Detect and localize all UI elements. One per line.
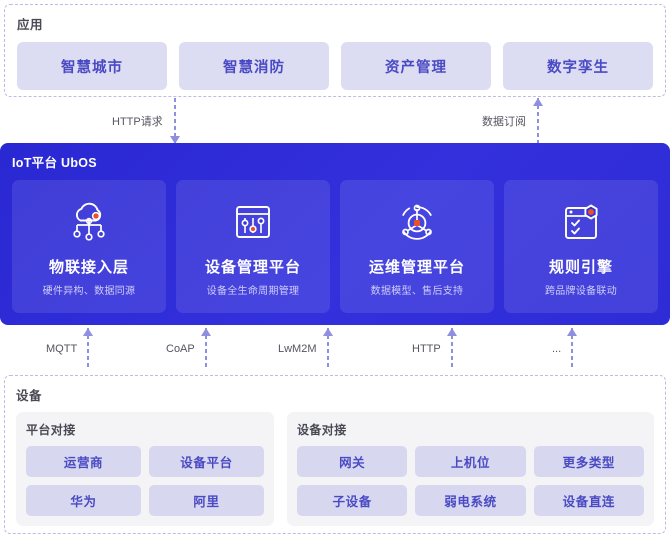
- platform-card-subtitle: 数据模型、售后支持: [371, 282, 464, 297]
- device-group-list: 平台对接 运营商 设备平台 华为 阿里 设备对接 网关 上机位 更多类型 子设备…: [16, 412, 654, 526]
- iot-platform-card-list: 物联接入层 硬件异构、数据同源 设备: [12, 180, 658, 313]
- device-group-device-integration: 设备对接 网关 上机位 更多类型 子设备 弱电系统 设备直连: [287, 412, 654, 526]
- cloud-iot-nodes-icon: [66, 200, 112, 246]
- protocol-connector-band: MQTT CoAP LwM2M HTTP ...: [0, 327, 670, 374]
- arrow-up-icon: [447, 328, 457, 370]
- iot-platform-title: IoT平台 UbOS: [12, 152, 658, 171]
- device-section-title: 设备: [16, 385, 654, 404]
- iot-architecture-diagram: 应用 智慧城市 智慧消防 资产管理 数字孪生 HTTP请求 数据订阅 IoT平台…: [0, 0, 670, 538]
- device-chip-sub-device[interactable]: 子设备: [297, 485, 407, 516]
- platform-card-rule-engine[interactable]: 规则引擎 跨品牌设备联动: [504, 180, 658, 313]
- arrow-up-icon: [83, 328, 93, 370]
- device-chip-upper-computer[interactable]: 上机位: [415, 446, 525, 477]
- application-card-asset-management[interactable]: 资产管理: [341, 42, 491, 90]
- application-section: 应用 智慧城市 智慧消防 资产管理 数字孪生: [4, 4, 666, 97]
- protocol-label-lwm2m: LwM2M: [278, 343, 317, 355]
- platform-card-title: 设备管理平台: [205, 256, 301, 277]
- device-chip-huawei[interactable]: 华为: [26, 485, 141, 516]
- platform-card-title: 运维管理平台: [369, 256, 465, 277]
- device-group-title: 设备对接: [297, 421, 644, 438]
- platform-card-subtitle: 设备全生命周期管理: [207, 282, 300, 297]
- arrow-up-icon: [567, 328, 577, 370]
- arrow-down-icon: [170, 98, 180, 144]
- protocol-label-http: HTTP: [412, 343, 441, 355]
- protocol-label-more: ...: [552, 343, 561, 355]
- device-chip-operator[interactable]: 运营商: [26, 446, 141, 477]
- protocol-connector-mqtt: MQTT: [46, 327, 93, 371]
- sliders-panel-icon: [232, 200, 274, 246]
- application-card-smart-city[interactable]: 智慧城市: [17, 42, 167, 90]
- iot-platform-section: IoT平台 UbOS: [0, 143, 670, 325]
- application-card-digital-twin[interactable]: 数字孪生: [503, 42, 653, 90]
- arrow-up-icon: [533, 98, 543, 144]
- device-section: 设备 平台对接 运营商 设备平台 华为 阿里 设备对接 网关 上机位 更多类型 …: [4, 375, 666, 534]
- checklist-gear-icon: [560, 200, 602, 246]
- device-chip-more-types[interactable]: 更多类型: [534, 446, 644, 477]
- platform-card-subtitle: 跨品牌设备联动: [545, 282, 617, 297]
- arrow-up-icon: [323, 328, 333, 370]
- device-chip-grid: 运营商 设备平台 华为 阿里: [26, 446, 264, 516]
- connector-data-subscription: 数据订阅: [482, 97, 543, 145]
- arrow-up-icon: [201, 328, 211, 370]
- application-section-title: 应用: [17, 14, 653, 33]
- device-chip-low-voltage-system[interactable]: 弱电系统: [415, 485, 525, 516]
- platform-card-ops-management[interactable]: 运维管理平台 数据模型、售后支持: [340, 180, 494, 313]
- device-chip-gateway[interactable]: 网关: [297, 446, 407, 477]
- device-chip-grid: 网关 上机位 更多类型 子设备 弱电系统 设备直连: [297, 446, 644, 516]
- protocol-connector-coap: CoAP: [166, 327, 211, 371]
- platform-card-device-management[interactable]: 设备管理平台 设备全生命周期管理: [176, 180, 330, 313]
- protocol-connector-more: ...: [552, 327, 577, 371]
- device-group-title: 平台对接: [26, 421, 264, 438]
- protocol-connector-http: HTTP: [412, 327, 457, 371]
- connector-data-subscription-label: 数据订阅: [482, 113, 526, 129]
- device-chip-direct-connect[interactable]: 设备直连: [534, 485, 644, 516]
- protocol-label-mqtt: MQTT: [46, 343, 77, 355]
- application-platform-connector-band: HTTP请求 数据订阅: [0, 97, 670, 145]
- protocol-label-coap: CoAP: [166, 343, 195, 355]
- ops-network-hub-icon: [395, 200, 439, 246]
- application-card-list: 智慧城市 智慧消防 资产管理 数字孪生: [17, 42, 653, 90]
- device-chip-alibaba[interactable]: 阿里: [149, 485, 264, 516]
- device-group-platform-integration: 平台对接 运营商 设备平台 华为 阿里: [16, 412, 274, 526]
- protocol-connector-lwm2m: LwM2M: [278, 327, 333, 371]
- platform-card-iot-access-layer[interactable]: 物联接入层 硬件异构、数据同源: [12, 180, 166, 313]
- application-card-smart-fire[interactable]: 智慧消防: [179, 42, 329, 90]
- platform-card-subtitle: 硬件异构、数据同源: [43, 282, 136, 297]
- platform-card-title: 规则引擎: [549, 256, 613, 277]
- device-chip-device-platform[interactable]: 设备平台: [149, 446, 264, 477]
- connector-http-request-label: HTTP请求: [112, 113, 163, 129]
- connector-http-request: HTTP请求: [112, 97, 180, 145]
- platform-card-title: 物联接入层: [49, 256, 129, 277]
